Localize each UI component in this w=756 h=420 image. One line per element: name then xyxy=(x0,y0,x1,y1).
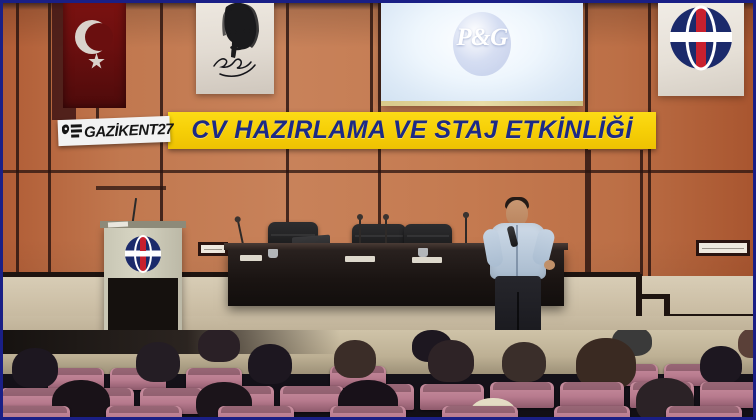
audience-seat xyxy=(560,382,624,408)
table-papers xyxy=(412,257,442,263)
table-papers xyxy=(240,255,262,261)
turkish-flag xyxy=(63,0,126,108)
wall-seam-horizontal xyxy=(96,186,166,190)
headline-banner: CV HAZIRLAMA VE STAJ ETKİNLİĞİ xyxy=(168,112,656,149)
audience-head xyxy=(428,340,474,382)
audience-head xyxy=(700,346,742,384)
water-glass xyxy=(418,248,428,257)
conference-hall-photo: P&G xyxy=(0,0,756,420)
watermark-logo: GAZİKENT27 xyxy=(58,116,171,146)
flag-crescent-icon xyxy=(75,20,109,54)
podium-base xyxy=(108,278,178,334)
audience-seat xyxy=(218,406,294,420)
water-glass xyxy=(268,249,278,258)
headline-text: CV HAZIRLAMA VE STAJ ETKİNLİĞİ xyxy=(191,118,632,143)
audience-seat xyxy=(700,382,756,408)
wall-seam xyxy=(588,150,591,276)
speaker-podium xyxy=(104,226,182,334)
wall-seam xyxy=(48,0,51,276)
audience-seat xyxy=(442,406,518,420)
wall-seam-horizontal xyxy=(0,170,756,173)
table-papers xyxy=(345,256,375,262)
ataturk-portrait-banner xyxy=(196,0,274,94)
wall-vent xyxy=(696,240,750,256)
audience-seat xyxy=(330,406,406,420)
audience-head xyxy=(738,330,756,358)
watermark-text: GAZİKENT27 xyxy=(84,121,174,139)
gaziantep-university-logo-banner xyxy=(658,0,744,96)
audience-seating xyxy=(0,330,756,420)
audience-head xyxy=(502,342,546,382)
audience-seat xyxy=(106,406,182,420)
podium-papers xyxy=(108,221,128,227)
ataturk-portrait-icon xyxy=(196,0,274,94)
mask-logo-icon xyxy=(62,122,85,143)
audience-seat xyxy=(0,406,70,420)
university-globe-logo-icon xyxy=(658,0,744,96)
audience-seat xyxy=(666,406,742,420)
flag-star-icon xyxy=(88,53,105,70)
screenshot-root: P&G xyxy=(0,0,756,420)
podium-university-logo-icon xyxy=(122,234,164,274)
pg-logo-text: P&G xyxy=(381,24,583,52)
audience-head xyxy=(198,330,240,362)
wall-seam xyxy=(16,0,19,276)
audience-head xyxy=(12,348,58,388)
audience-seat xyxy=(554,406,630,420)
projection-screen: P&G xyxy=(381,0,583,106)
audience-head xyxy=(334,340,376,378)
presenter xyxy=(482,196,554,336)
screen-bottom-edge xyxy=(381,101,583,106)
audience-head xyxy=(136,342,180,382)
wall-seam xyxy=(370,0,373,112)
presenter-trousers xyxy=(495,276,541,334)
presenter-right-hand xyxy=(544,260,555,270)
audience-head xyxy=(248,344,292,384)
